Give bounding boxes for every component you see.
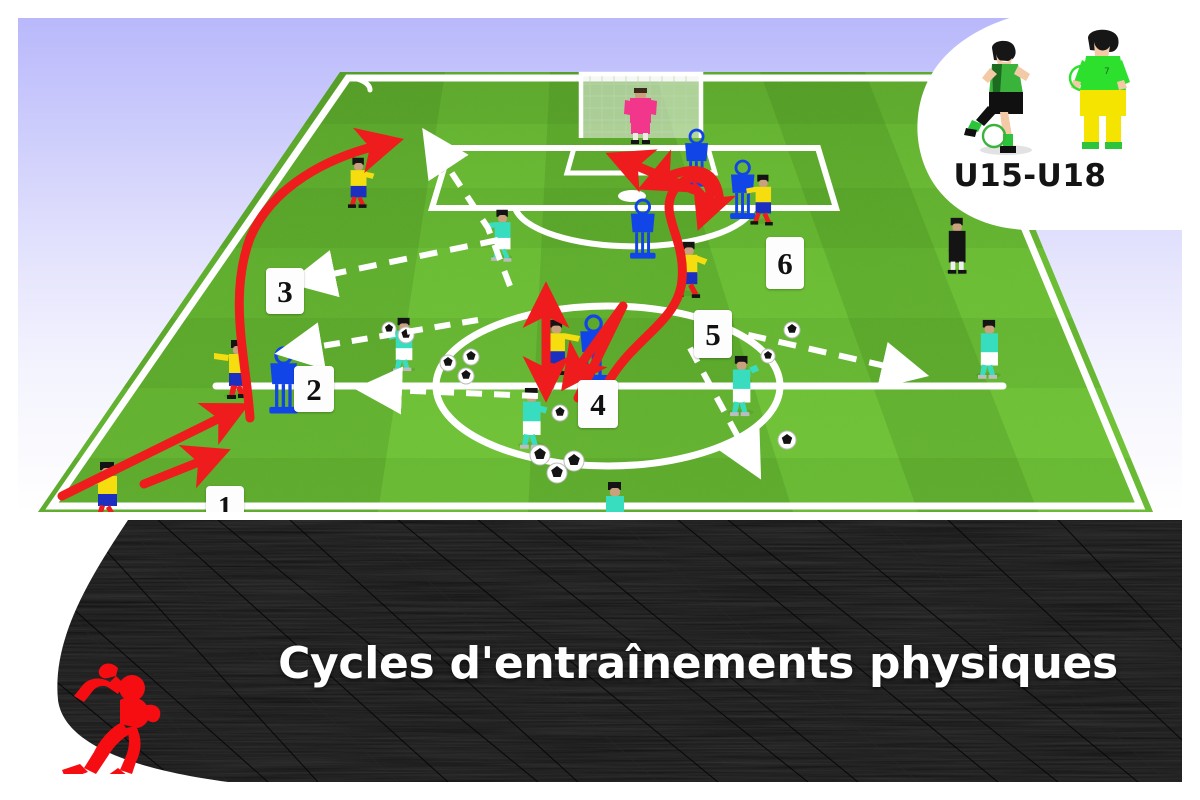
badge-figure-standing-player: 7 [1060, 26, 1146, 162]
age-category-badge: 7 U15-U18 [892, 18, 1182, 230]
marker-5[interactable]: 5 [694, 310, 732, 358]
badge-figure-dribbling-player [964, 36, 1048, 158]
runner-icon [58, 652, 168, 774]
poster-root: 1 2 3 4 5 6 [0, 0, 1200, 800]
marker-6-label: 6 [777, 248, 793, 279]
marker-4[interactable]: 4 [578, 380, 618, 428]
svg-text:7: 7 [1104, 67, 1110, 77]
marker-3[interactable]: 3 [266, 268, 304, 314]
training-diagram-scene: 1 2 3 4 5 6 [18, 18, 1182, 512]
marker-2-label: 2 [306, 374, 322, 405]
title-panel: Cycles d'entraînements physiques [18, 520, 1182, 782]
marker-1[interactable]: 1 [206, 486, 244, 512]
marker-5-label: 5 [705, 319, 721, 350]
marker-3-label: 3 [277, 276, 293, 307]
marker-1-label: 1 [218, 494, 232, 512]
marker-4-label: 4 [590, 389, 606, 420]
badge-label: U15-U18 [892, 158, 1168, 194]
page-title: Cycles d'entraînements physiques [248, 638, 1148, 689]
marker-6[interactable]: 6 [766, 237, 804, 289]
goal [581, 74, 701, 144]
marker-2[interactable]: 2 [294, 366, 334, 412]
